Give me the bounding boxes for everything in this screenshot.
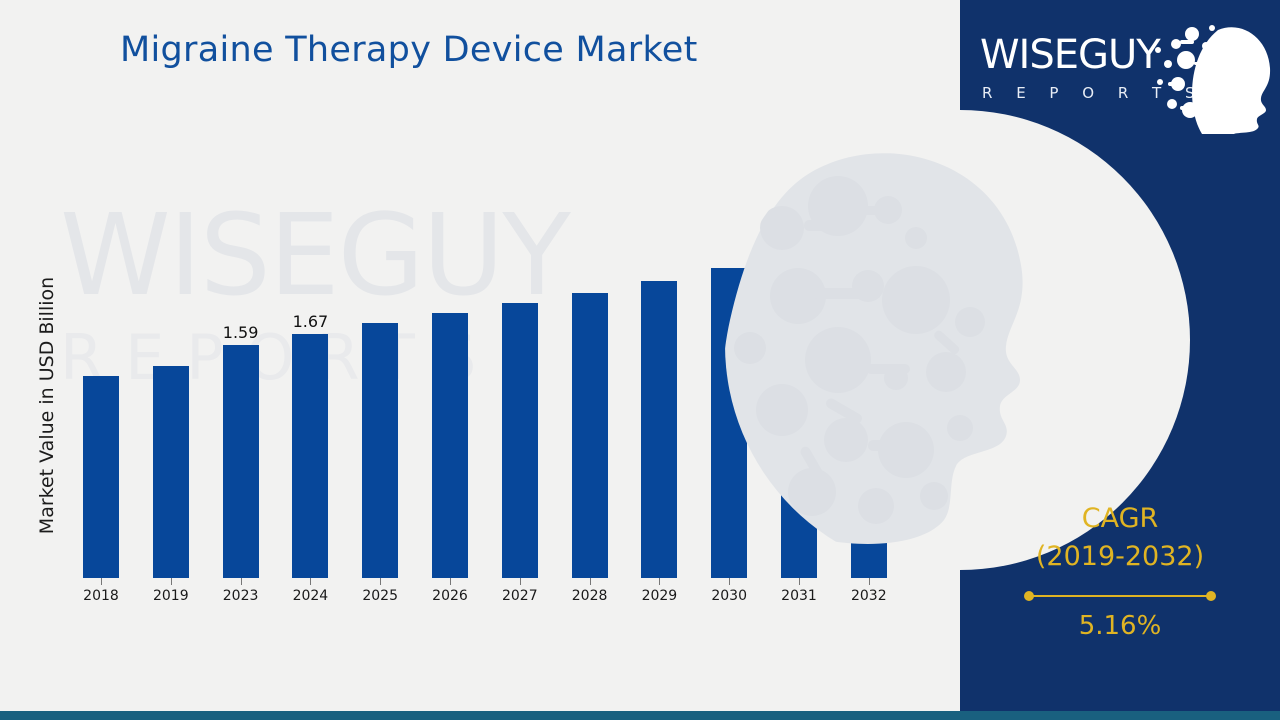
x-tick-label-2023: 2023 [201, 588, 281, 604]
bar-value-label-2023: 1.59 [201, 323, 281, 342]
bar-2029 [641, 281, 677, 578]
logo-wordmark: WISEGUY [980, 32, 1160, 78]
x-tick-label-2028: 2028 [550, 588, 630, 604]
chart-panel: WISEGUY REPORTS Migraine Therapy Device … [0, 0, 960, 712]
cagr-title: CAGR [960, 500, 1280, 538]
divider-line [1030, 595, 1210, 597]
bar-2024 [292, 334, 328, 578]
bar-2025 [362, 323, 398, 578]
bar-2030 [711, 268, 747, 578]
x-tick-label-2018: 2018 [61, 588, 141, 604]
x-tick-label-2025: 2025 [340, 588, 420, 604]
bar-2031 [781, 254, 817, 578]
divider-dot-right [1206, 591, 1216, 601]
bar-value-label-2032: 2.5 [829, 190, 909, 209]
x-tick-mark-2032 [869, 578, 870, 585]
x-tick-mark-2031 [799, 578, 800, 585]
x-tick-mark-2027 [520, 578, 521, 585]
wiseguy-logo: WISEGUY R E P O R T S [968, 28, 1274, 120]
bar-2023 [223, 345, 259, 578]
bar-plot-area: 201820191.5920231.6720242025202620272028… [0, 0, 960, 712]
cagr-callout: CAGR (2019-2032) 5.16% [960, 500, 1280, 644]
bar-2026 [432, 313, 468, 578]
x-tick-label-2032: 2032 [829, 588, 909, 604]
bar-2027 [502, 303, 538, 578]
x-tick-mark-2025 [380, 578, 381, 585]
bar-2028 [572, 293, 608, 578]
logo-face-icon [1146, 24, 1276, 134]
footer-bar [0, 711, 1280, 720]
bar-value-label-2024: 1.67 [270, 312, 350, 331]
x-tick-label-2029: 2029 [619, 588, 699, 604]
cagr-divider [1024, 590, 1216, 602]
cagr-range: (2019-2032) [960, 538, 1280, 576]
cagr-value: 5.16% [960, 608, 1280, 644]
x-tick-mark-2029 [659, 578, 660, 585]
x-tick-label-2026: 2026 [410, 588, 490, 604]
x-tick-mark-2019 [171, 578, 172, 585]
x-tick-mark-2024 [310, 578, 311, 585]
x-tick-label-2024: 2024 [270, 588, 350, 604]
x-tick-mark-2026 [450, 578, 451, 585]
bar-2019 [153, 366, 189, 578]
x-tick-label-2031: 2031 [759, 588, 839, 604]
bar-2018 [83, 376, 119, 578]
x-tick-label-2030: 2030 [689, 588, 769, 604]
bar-2032 [851, 212, 887, 578]
x-tick-mark-2030 [729, 578, 730, 585]
x-tick-label-2027: 2027 [480, 588, 560, 604]
x-tick-mark-2028 [590, 578, 591, 585]
x-tick-label-2019: 2019 [131, 588, 211, 604]
x-tick-mark-2023 [241, 578, 242, 585]
x-tick-mark-2018 [101, 578, 102, 585]
